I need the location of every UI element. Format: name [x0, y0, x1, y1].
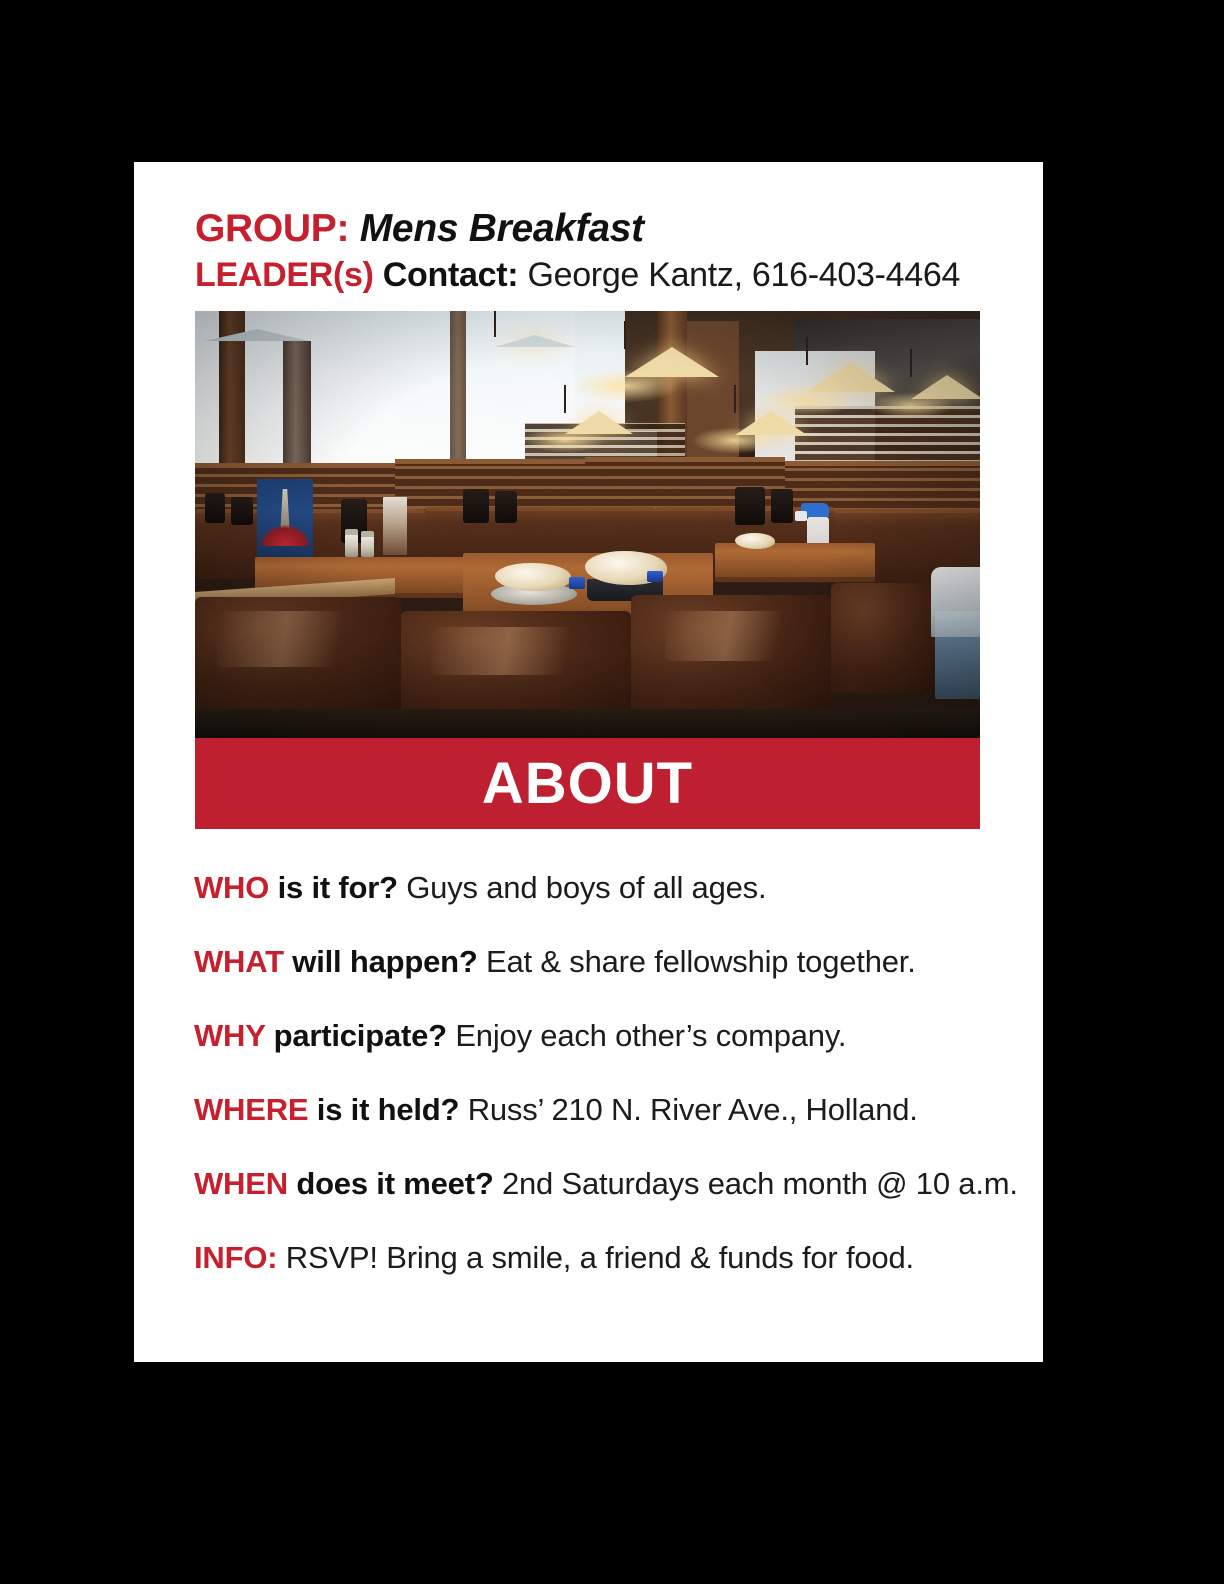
interior-column: [283, 341, 311, 471]
carafe-2: [495, 491, 517, 523]
qa-row-info: INFO: RSVP! Bring a smile, a friend & fu…: [194, 1240, 1024, 1276]
qa-key-info: INFO:: [194, 1240, 277, 1275]
booth-seat-highlight-left: [217, 611, 367, 667]
qa-answer-why: Enjoy each other’s company.: [447, 1018, 846, 1053]
qa-question-where: is it held?: [308, 1092, 459, 1127]
blue-condiment-2: [647, 571, 663, 582]
about-qa-list: WHO is it for? Guys and boys of all ages…: [194, 870, 1024, 1276]
contact-label: Contact:: [383, 256, 518, 294]
salt-shaker: [345, 533, 358, 557]
qa-key-what: WHAT: [194, 944, 284, 979]
carafe-5: [205, 493, 225, 523]
food-napkin-1: [495, 563, 571, 591]
lamp-cord: [494, 311, 496, 337]
floor: [195, 709, 980, 738]
qa-question-what: will happen?: [284, 944, 478, 979]
trash-bag: [931, 567, 980, 637]
lamp-cord: [624, 321, 626, 349]
lamp-shade: [205, 329, 309, 341]
carafe-3: [735, 487, 765, 525]
pepper-shaker-cap: [361, 531, 374, 537]
about-banner-title: ABOUT: [482, 755, 693, 813]
lamp-glow: [570, 369, 680, 403]
table-tent-card-2: [383, 497, 407, 555]
qa-row-when: WHEN does it meet? 2nd Saturdays each mo…: [194, 1166, 1024, 1202]
table-right-item: [735, 533, 775, 549]
qa-answer-where: Russ’ 210 N. River Ave., Holland.: [459, 1092, 917, 1127]
lamp-cord: [910, 349, 912, 377]
flyer-header: GROUP: Mens Breakfast LEADER(s) Contact:…: [195, 206, 995, 296]
leader-label: LEADER(s): [195, 256, 374, 294]
qa-answer-when: 2nd Saturdays each month @ 10 a.m.: [494, 1166, 1018, 1201]
qa-answer-what: Eat & share fellowship together.: [478, 944, 916, 979]
group-name: Mens Breakfast: [360, 207, 644, 250]
qa-answer-info: RSVP! Bring a smile, a friend & funds fo…: [277, 1240, 914, 1275]
pepper-shaker: [361, 535, 374, 557]
lamp-glow: [691, 427, 779, 454]
restaurant-interior-photo: [195, 311, 980, 738]
qa-row-what: WHAT will happen? Eat & share fellowship…: [194, 944, 1024, 980]
tent-card-swoosh: [260, 525, 309, 546]
qa-answer-who: Guys and boys of all ages.: [398, 870, 767, 905]
spray-bottle-trigger: [795, 511, 807, 521]
tent-card-art: [274, 489, 296, 528]
lamp-cord: [564, 385, 566, 413]
qa-key-who: WHO: [194, 870, 269, 905]
carafe-1: [463, 489, 489, 523]
qa-question-why: participate?: [265, 1018, 447, 1053]
qa-row-why: WHY participate? Enjoy each other’s comp…: [194, 1018, 1024, 1054]
booth-seat-highlight-right: [665, 611, 805, 661]
table-tent-card-left: [257, 479, 313, 561]
booth-seat-highlight-center: [431, 627, 599, 675]
leader-line: LEADER(s) Contact: George Kantz, 616-403…: [195, 254, 995, 296]
lamp-glow: [868, 392, 954, 419]
lamp-cord: [806, 337, 808, 365]
window-mullion-center: [450, 311, 466, 463]
lamp-shade: [495, 335, 575, 347]
booth-seat-far-right: [831, 583, 941, 693]
qa-question-when: does it meet?: [288, 1166, 494, 1201]
contact-value: George Kantz, 616-403-4464: [527, 256, 960, 294]
qa-key-when: WHEN: [194, 1166, 288, 1201]
qa-row-where: WHERE is it held? Russ’ 210 N. River Ave…: [194, 1092, 1024, 1128]
qa-key-why: WHY: [194, 1018, 265, 1053]
lamp-glow: [523, 427, 607, 453]
about-banner: ABOUT: [195, 738, 980, 829]
qa-question-who: is it for?: [269, 870, 398, 905]
lamp-cord: [734, 385, 736, 413]
lamp-glow: [755, 384, 859, 416]
carafe-4: [771, 489, 793, 523]
group-line: GROUP: Mens Breakfast: [195, 206, 995, 252]
salt-shaker-cap: [345, 529, 358, 535]
qa-key-where: WHERE: [194, 1092, 308, 1127]
table-right: [715, 543, 875, 582]
flyer-page: GROUP: Mens Breakfast LEADER(s) Contact:…: [134, 162, 1043, 1362]
carafe-6: [231, 497, 253, 525]
qa-row-who: WHO is it for? Guys and boys of all ages…: [194, 870, 1024, 906]
blue-condiment-1: [569, 577, 585, 589]
group-label: GROUP:: [195, 207, 349, 250]
